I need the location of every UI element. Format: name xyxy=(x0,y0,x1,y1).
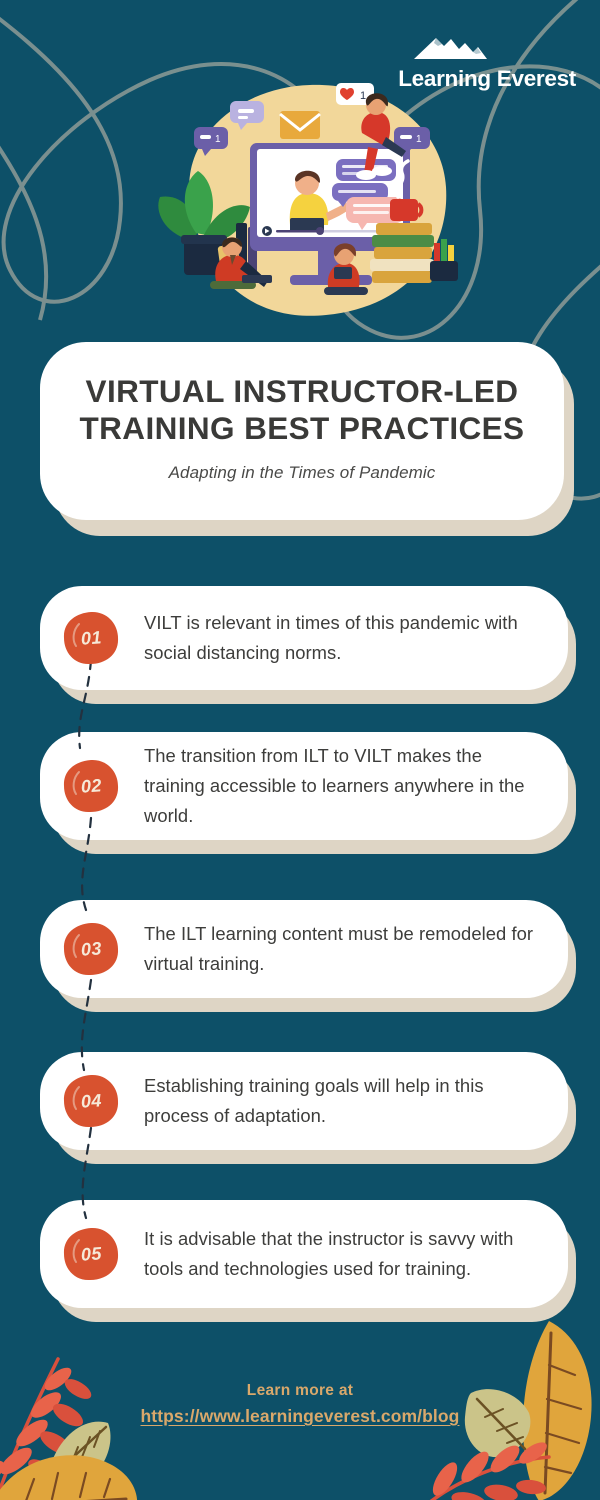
list-item-text: VILT is relevant in times of this pandem… xyxy=(144,608,542,668)
number-badge-label: 04 xyxy=(80,1090,102,1112)
svg-text:1: 1 xyxy=(360,90,366,102)
list-item: The transition from ILT to VILT makes th… xyxy=(40,732,568,840)
infographic-poster: Learning Everest xyxy=(0,0,600,1500)
svg-text:1: 1 xyxy=(416,134,422,145)
number-badge: 04 xyxy=(62,1073,120,1129)
number-badge: 02 xyxy=(62,758,120,814)
list-item: VILT is relevant in times of this pandem… xyxy=(40,586,568,690)
number-badge-label: 01 xyxy=(80,627,102,649)
title-card-face: VIRTUAL INSTRUCTOR-LED TRAINING BEST PRA… xyxy=(40,342,564,520)
list-item: It is advisable that the instructor is s… xyxy=(40,1200,568,1308)
list-item-text: The transition from ILT to VILT makes th… xyxy=(144,741,542,830)
pencil-cup xyxy=(430,239,458,281)
list-item-text: Establishing training goals will help in… xyxy=(144,1071,542,1131)
page-title: VIRTUAL INSTRUCTOR-LED TRAINING BEST PRA… xyxy=(70,373,534,446)
footer: Learn more at https://www.learningeveres… xyxy=(0,1382,600,1427)
svg-text:1: 1 xyxy=(215,134,221,145)
mountain-icon xyxy=(410,30,506,60)
stacked-books-right xyxy=(370,223,434,283)
footer-lead-text: Learn more at xyxy=(0,1382,600,1400)
number-badge: 03 xyxy=(62,921,120,977)
envelope-icon xyxy=(280,111,320,139)
list-item: The ILT learning content must be remodel… xyxy=(40,900,568,998)
number-badge-label: 05 xyxy=(80,1243,102,1265)
number-badge: 01 xyxy=(62,610,120,666)
number-badge-label: 02 xyxy=(80,775,102,797)
title-card: VIRTUAL INSTRUCTOR-LED TRAINING BEST PRA… xyxy=(40,342,564,520)
footer-blog-link[interactable]: https://www.learningeverest.com/blog xyxy=(141,1406,460,1427)
number-badge-label: 03 xyxy=(80,938,102,960)
page-subtitle: Adapting in the Times of Pandemic xyxy=(169,463,436,483)
online-learning-illustration: 1 1 1 xyxy=(150,75,470,330)
list-item-text: The ILT learning content must be remodel… xyxy=(144,919,542,979)
number-badge: 05 xyxy=(62,1226,120,1282)
list-item-text: It is advisable that the instructor is s… xyxy=(144,1224,542,1284)
list-item: Establishing training goals will help in… xyxy=(40,1052,568,1150)
